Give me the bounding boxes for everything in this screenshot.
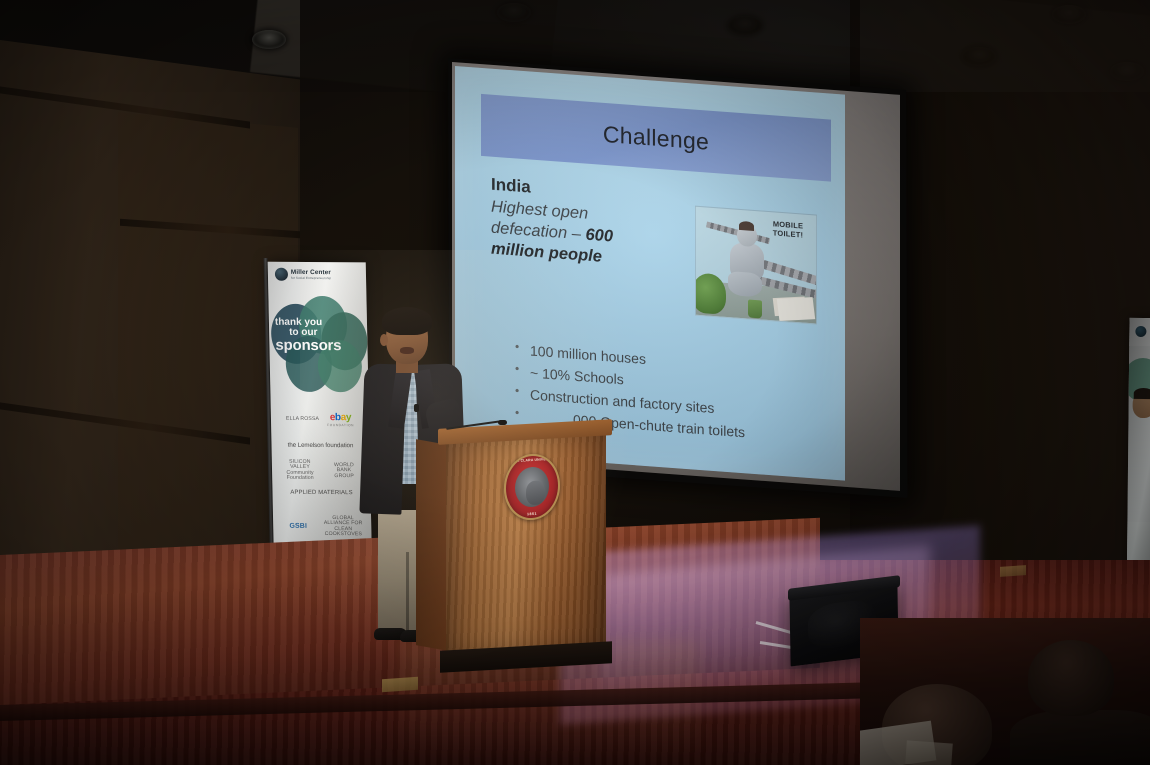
audience-foreground <box>860 618 1150 765</box>
ebay-foundation-label: FOUNDATION <box>327 423 354 427</box>
banner-headline: thank you to our sponsors <box>275 318 368 354</box>
gooseneck-microphone-icon <box>446 420 506 430</box>
sponsor-row: the Lemelson foundation <box>271 442 369 450</box>
cartoon-caption: MOBILE TOILET! <box>764 220 812 241</box>
sponsor-logo-silicon-valley: SILICON VALLEY Community Foundation <box>281 460 319 482</box>
cartoon-paper <box>777 297 815 321</box>
globe-icon <box>275 268 288 281</box>
floor-plate <box>1000 565 1026 577</box>
sponsor-logo-applied-materials: APPLIED MATERIALS <box>290 490 352 497</box>
presentation-slide: Challenge India Highest open defecation … <box>455 66 845 481</box>
speaker-trouser-seam <box>406 552 409 634</box>
audience-program-paper <box>905 740 953 765</box>
banner-org-tagline: for Social Entrepreneurship <box>291 276 331 280</box>
slide-cartoon-image: MOBILE TOILET! <box>695 206 817 325</box>
cartoon-person-hair <box>739 221 754 231</box>
speaker-ear <box>380 334 388 346</box>
slide-title: Challenge <box>481 94 831 182</box>
cartoon-bucket <box>748 300 762 319</box>
podium: SANTA CLARA UNIVERSITY 1851 <box>440 424 610 672</box>
sponsor-logo-ellarossa: ELLA ROSSA <box>286 417 319 423</box>
sponsor-logo-gsbi: GSBI <box>281 523 315 531</box>
sponsor-row: ELLA ROSSA ebay FOUNDATION <box>271 412 369 428</box>
audience-member-shoulder <box>1010 710 1150 765</box>
slide-subtitle: Highest open defecation – 600 million pe… <box>491 197 661 273</box>
seal-face-relief <box>526 480 545 505</box>
slide-subtitle-prefix: Highest open defecation – <box>491 198 588 244</box>
cartoon-bush <box>695 272 726 314</box>
ebay-wordmark: ebay <box>327 412 354 423</box>
banner-headline-line3: sponsors <box>275 338 367 354</box>
slide-country-heading: India <box>491 175 531 198</box>
speaker-mouth <box>400 347 414 354</box>
university-seal: SANTA CLARA UNIVERSITY 1851 <box>504 452 560 521</box>
podium-side-panel <box>416 439 448 651</box>
seal-medallion <box>515 466 549 508</box>
downlight-icon <box>252 30 286 49</box>
lapel-microphone-icon <box>414 404 419 412</box>
cartoon-person <box>726 223 768 300</box>
floor-plate <box>382 677 418 693</box>
audience-member-head <box>1028 640 1114 716</box>
microphone-capsule <box>498 420 507 425</box>
microphone-arm <box>446 420 502 430</box>
cartoon-person-legs <box>728 271 762 297</box>
miller-center-logo: Miller Center for Social Entrepreneurshi… <box>275 268 331 281</box>
presentation-photo: Challenge India Highest open defecation … <box>0 0 1150 765</box>
sponsor-logo-ebay: ebay FOUNDATION <box>327 412 354 427</box>
slide-title-band: Challenge <box>481 94 831 182</box>
speaker-hair <box>382 307 432 335</box>
sponsor-logo-lemelson: the Lemelson foundation <box>288 442 354 449</box>
